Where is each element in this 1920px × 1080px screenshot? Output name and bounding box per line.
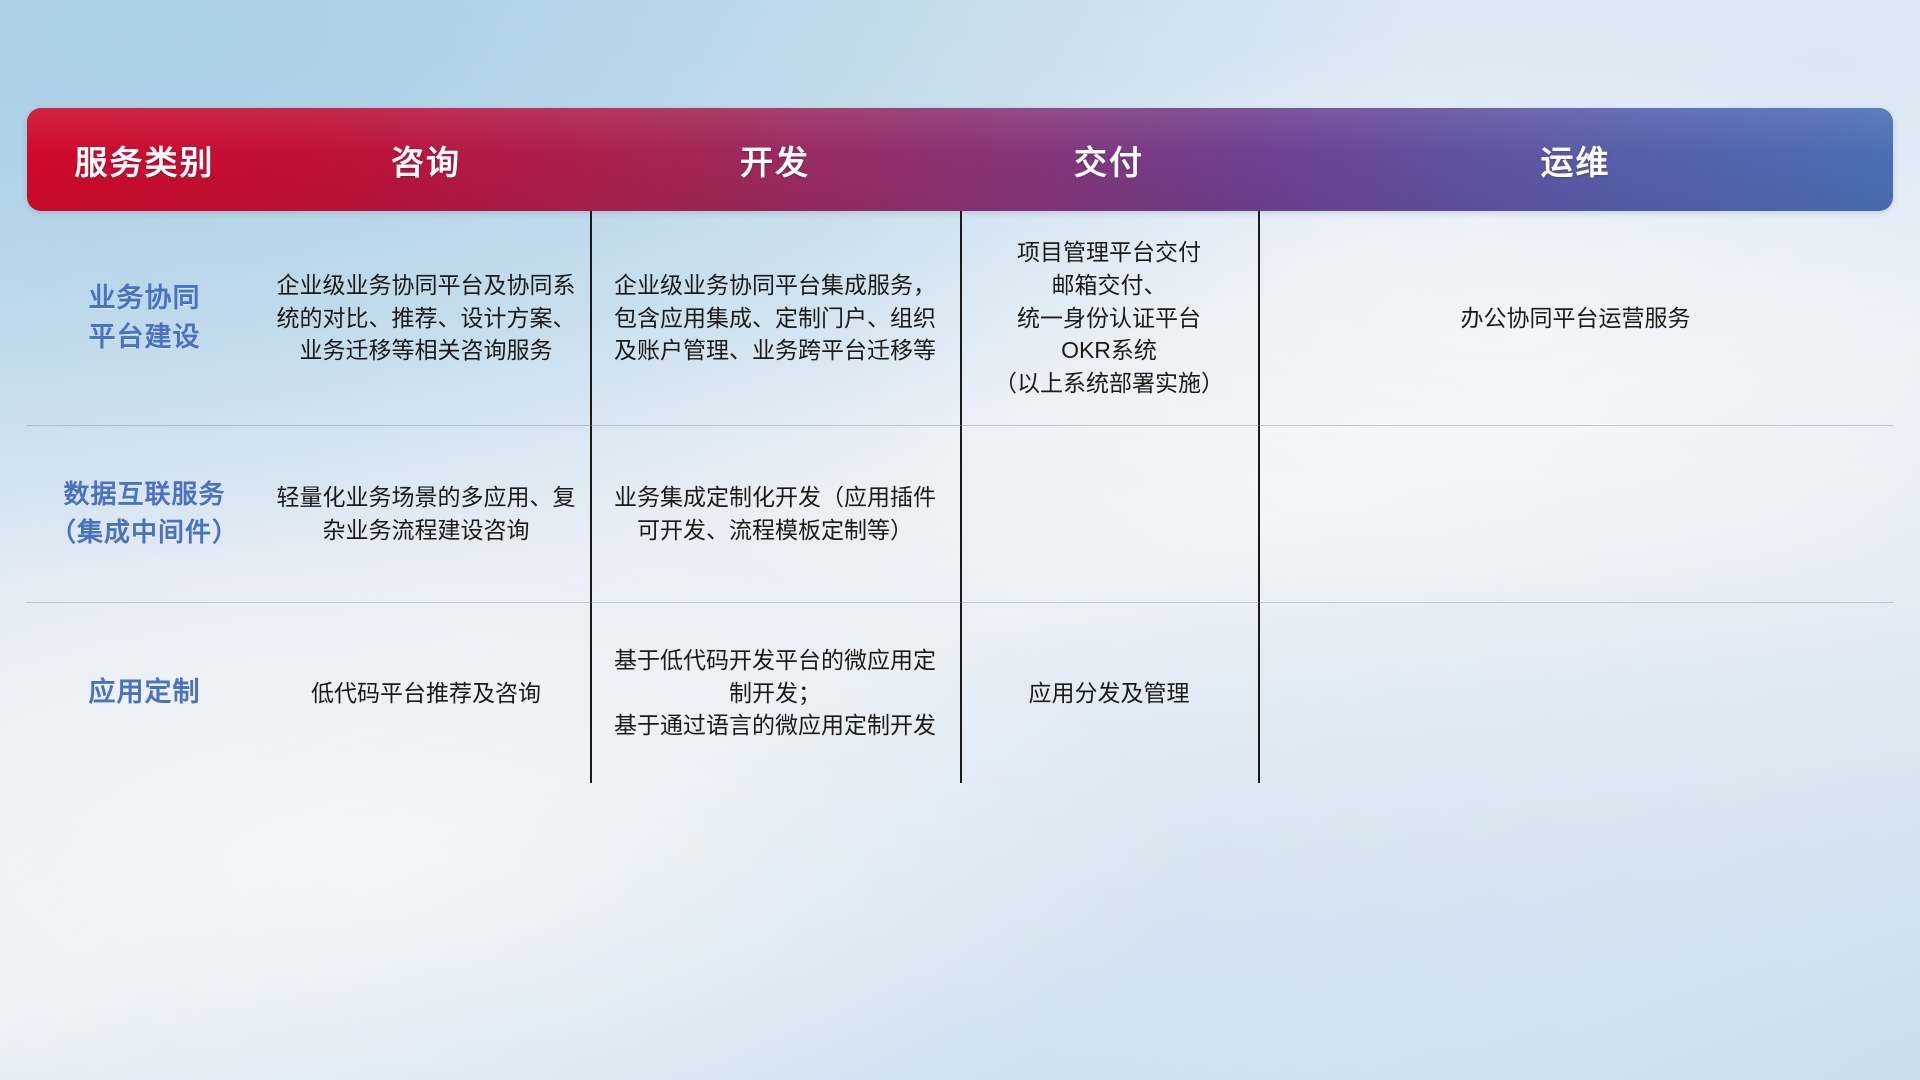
row-category-label: 应用定制 [89, 673, 201, 712]
cell-delivery: 项目管理平台交付 邮箱交付、 统一身份认证平台 OKR系统 （以上系统部署实施） [960, 211, 1258, 425]
row-category-cell: 数据互联服务 （集成中间件） [27, 426, 262, 602]
table-header-row: 服务类别 咨询 开发 交付 运维 [27, 108, 1893, 211]
column-header-operations-label: 运维 [1541, 136, 1611, 184]
column-header-development: 开发 [590, 108, 960, 211]
row-category-label: 数据互联服务 （集成中间件） [50, 476, 239, 551]
cell-delivery-text: 项目管理平台交付 邮箱交付、 统一身份认证平台 OKR系统 （以上系统部署实施） [994, 236, 1224, 399]
column-header-delivery-label: 交付 [1074, 136, 1144, 184]
cell-consulting: 企业级业务协同平台及协同系 统的对比、推荐、设计方案、 业务迁移等相关咨询服务 [262, 211, 590, 425]
cell-delivery [960, 426, 1258, 602]
cell-development: 业务集成定制化开发（应用插件 可开发、流程模板定制等） [590, 426, 960, 602]
cell-operations [1258, 426, 1893, 602]
row-category-cell: 业务协同 平台建设 [27, 211, 262, 425]
row-category-label: 业务协同 平台建设 [89, 279, 201, 357]
cell-consulting: 轻量化业务场景的多应用、复 杂业务流程建设咨询 [262, 426, 590, 602]
cell-development-text: 企业级业务协同平台集成服务， 包含应用集成、定制门户、组织 及账户管理、业务跨平… [614, 269, 936, 367]
cell-delivery: 应用分发及管理 [960, 603, 1258, 783]
cell-operations [1258, 603, 1893, 783]
column-header-consulting: 咨询 [262, 108, 590, 211]
cell-operations: 办公协同平台运营服务 [1258, 211, 1893, 425]
service-matrix-table: 服务类别 咨询 开发 交付 运维 业务协同 平台建设 企业级业务协同平台及协同系… [27, 108, 1893, 781]
column-header-development-label: 开发 [740, 136, 810, 184]
cell-consulting-text: 低代码平台推荐及咨询 [311, 677, 541, 710]
cell-operations-text: 办公协同平台运营服务 [1461, 302, 1691, 335]
cell-consulting-text: 轻量化业务场景的多应用、复 杂业务流程建设咨询 [277, 481, 576, 546]
cell-development: 企业级业务协同平台集成服务， 包含应用集成、定制门户、组织 及账户管理、业务跨平… [590, 211, 960, 425]
cell-consulting: 低代码平台推荐及咨询 [262, 603, 590, 783]
cell-development-text: 业务集成定制化开发（应用插件 可开发、流程模板定制等） [614, 481, 936, 546]
column-header-delivery: 交付 [960, 108, 1258, 211]
table-body: 业务协同 平台建设 企业级业务协同平台及协同系 统的对比、推荐、设计方案、 业务… [27, 211, 1893, 783]
column-header-category: 服务类别 [27, 108, 262, 211]
column-header-consulting-label: 咨询 [391, 136, 461, 184]
cell-consulting-text: 企业级业务协同平台及协同系 统的对比、推荐、设计方案、 业务迁移等相关咨询服务 [277, 269, 576, 367]
cell-development: 基于低代码开发平台的微应用定 制开发； 基于通过语言的微应用定制开发 [590, 603, 960, 783]
column-header-operations: 运维 [1258, 108, 1893, 211]
row-category-cell: 应用定制 [27, 603, 262, 783]
table-row: 数据互联服务 （集成中间件） 轻量化业务场景的多应用、复 杂业务流程建设咨询 业… [27, 426, 1893, 603]
table-row: 业务协同 平台建设 企业级业务协同平台及协同系 统的对比、推荐、设计方案、 业务… [27, 211, 1893, 426]
cell-delivery-text: 应用分发及管理 [1029, 677, 1190, 710]
cell-development-text: 基于低代码开发平台的微应用定 制开发； 基于通过语言的微应用定制开发 [614, 644, 936, 742]
table-row: 应用定制 低代码平台推荐及咨询 基于低代码开发平台的微应用定 制开发； 基于通过… [27, 603, 1893, 783]
column-header-category-label: 服务类别 [75, 136, 215, 184]
